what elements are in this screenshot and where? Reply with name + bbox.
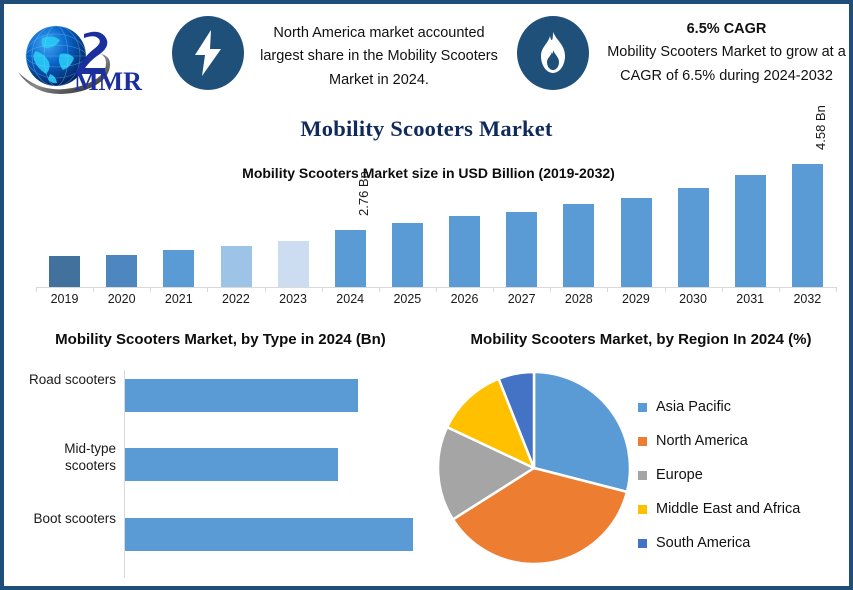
hbar-road-scooters bbox=[125, 379, 358, 412]
bar-2031 bbox=[735, 175, 766, 287]
x-axis-tick bbox=[607, 287, 608, 292]
market-size-bar-chart: Mobility Scooters Market size in USD Bil… bbox=[8, 156, 849, 316]
legend-item-south-america[interactable]: South America bbox=[638, 526, 848, 560]
x-axis-tick bbox=[722, 287, 723, 292]
x-tick-label-2029: 2029 bbox=[607, 292, 664, 306]
bar-2021 bbox=[163, 250, 194, 287]
x-tick-label-2023: 2023 bbox=[265, 292, 322, 306]
bar-2023 bbox=[278, 241, 309, 287]
legend-item-europe[interactable]: Europe bbox=[638, 458, 848, 492]
bar-2032 bbox=[792, 164, 823, 287]
legend-label: South America bbox=[656, 535, 750, 551]
bolt-glyph bbox=[190, 30, 226, 76]
x-axis-tick bbox=[550, 287, 551, 292]
by-region-chart-title: Mobility Scooters Market, by Region In 2… bbox=[446, 330, 836, 350]
legend-swatch-icon bbox=[638, 505, 647, 514]
flame-glyph bbox=[538, 32, 568, 74]
bar-value-label-2032: 4.58 Bn bbox=[813, 105, 828, 150]
x-tick-label-2030: 2030 bbox=[665, 292, 722, 306]
legend-swatch-icon bbox=[638, 471, 647, 480]
lightning-bolt-icon bbox=[172, 16, 244, 90]
by-type-chart: Mobility Scooters Market, by Type in 202… bbox=[8, 324, 428, 590]
cagr-headline: 6.5% CAGR bbox=[604, 18, 849, 41]
x-tick-label-2022: 2022 bbox=[207, 292, 264, 306]
region-pie-graphic bbox=[434, 368, 634, 573]
hbar-mid-type-scooters bbox=[125, 448, 338, 481]
x-tick-label-2027: 2027 bbox=[493, 292, 550, 306]
x-tick-label-2019: 2019 bbox=[36, 292, 93, 306]
legend-item-asia-pacific[interactable]: Asia Pacific bbox=[638, 390, 848, 424]
header-band: MMR North America market accounted large… bbox=[4, 4, 849, 109]
x-axis-tick bbox=[207, 287, 208, 292]
hbar-category-label: Mid-type scooters bbox=[12, 441, 116, 475]
x-axis-tick bbox=[436, 287, 437, 292]
x-axis-tick bbox=[322, 287, 323, 292]
x-axis-tick bbox=[265, 287, 266, 292]
legend-item-north-america[interactable]: North America bbox=[638, 424, 848, 458]
x-axis-tick bbox=[93, 287, 94, 292]
x-axis-tick bbox=[665, 287, 666, 292]
header-highlight-1-text: North America market accounted largest s… bbox=[254, 22, 504, 92]
x-axis-tick bbox=[493, 287, 494, 292]
legend-label: Asia Pacific bbox=[656, 399, 731, 415]
legend-label: North America bbox=[656, 433, 748, 449]
x-axis-tick bbox=[379, 287, 380, 292]
bar-2030 bbox=[678, 188, 709, 287]
bar-2024 bbox=[335, 230, 366, 287]
legend-swatch-icon bbox=[638, 403, 647, 412]
bar-2019 bbox=[49, 256, 80, 287]
x-tick-label-2021: 2021 bbox=[150, 292, 207, 306]
bar-2022 bbox=[221, 246, 252, 287]
page-title: Mobility Scooters Market bbox=[4, 116, 849, 142]
header-highlight-2-text: Mobility Scooters Market to grow at a CA… bbox=[607, 44, 846, 83]
x-tick-label-2024: 2024 bbox=[322, 292, 379, 306]
x-axis-tick bbox=[779, 287, 780, 292]
region-pie-legend: Asia PacificNorth AmericaEuropeMiddle Ea… bbox=[638, 390, 848, 560]
x-tick-label-2020: 2020 bbox=[93, 292, 150, 306]
x-axis-tick bbox=[150, 287, 151, 292]
legend-label: Europe bbox=[656, 467, 703, 483]
logo-artwork: MMR bbox=[12, 18, 162, 98]
hbar-category-label: Boot scooters bbox=[12, 511, 116, 528]
legend-label: Middle East and Africa bbox=[656, 501, 800, 517]
market-size-x-axis-labels: 2019202020212022202320242025202620272028… bbox=[36, 292, 836, 314]
by-region-chart: Mobility Scooters Market, by Region In 2… bbox=[428, 324, 849, 590]
x-tick-label-2031: 2031 bbox=[722, 292, 779, 306]
legend-swatch-icon bbox=[638, 437, 647, 446]
legend-item-middle-east-and-africa[interactable]: Middle East and Africa bbox=[638, 492, 848, 526]
x-tick-label-2025: 2025 bbox=[379, 292, 436, 306]
bar-2029 bbox=[621, 198, 652, 287]
hbar-boot-scooters bbox=[125, 518, 413, 551]
legend-swatch-icon bbox=[638, 539, 647, 548]
bar-2025 bbox=[392, 223, 423, 287]
bar-2028 bbox=[563, 204, 594, 287]
bar-2027 bbox=[506, 212, 537, 287]
logo-text: MMR bbox=[74, 67, 142, 96]
x-tick-label-2032: 2032 bbox=[779, 292, 836, 306]
infographic-page: MMR North America market accounted large… bbox=[0, 0, 853, 590]
flame-icon bbox=[517, 16, 589, 90]
x-axis-tick bbox=[836, 287, 837, 292]
header-highlight-2: 6.5% CAGR Mobility Scooters Market to gr… bbox=[604, 18, 849, 88]
bar-2020 bbox=[106, 255, 137, 287]
x-tick-label-2028: 2028 bbox=[550, 292, 607, 306]
hbar-category-label: Road scooters bbox=[12, 372, 116, 389]
x-tick-label-2026: 2026 bbox=[436, 292, 493, 306]
by-type-chart-title: Mobility Scooters Market, by Type in 202… bbox=[28, 330, 413, 350]
x-axis-tick bbox=[36, 287, 37, 292]
bar-value-label-2024: 2.76 Bn bbox=[356, 171, 371, 216]
mmr-globe-logo: MMR bbox=[12, 18, 162, 98]
market-size-plot-area: 2.76 Bn4.58 Bn bbox=[36, 156, 836, 287]
bar-2026 bbox=[449, 216, 480, 287]
